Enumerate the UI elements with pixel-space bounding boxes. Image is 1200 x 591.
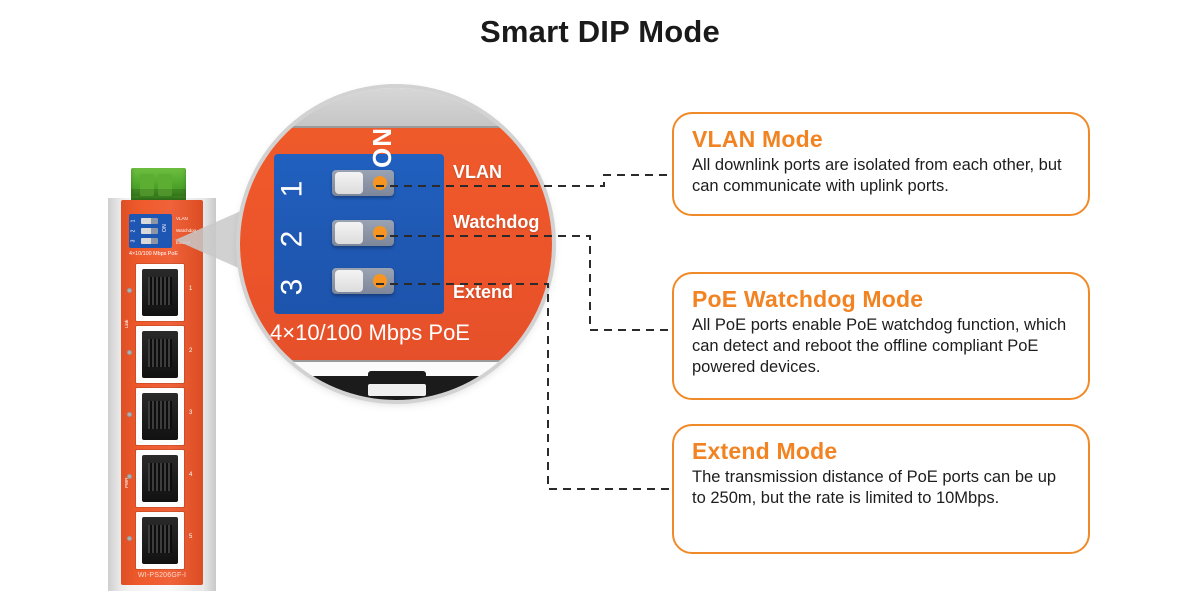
rj45-icon (142, 455, 178, 502)
dip-knob-1 (335, 172, 363, 194)
device-port-3[interactable] (136, 388, 184, 445)
device-port-5[interactable] (136, 512, 184, 569)
device-model-label: WI-PS206GF-I (100, 572, 224, 579)
device-dip-on-label: ON (162, 224, 168, 232)
dip-lever-1[interactable] (332, 170, 394, 196)
device-dip-lever-1[interactable] (141, 218, 158, 224)
device-led-1 (127, 288, 132, 293)
dip-indicator-dot-1 (373, 176, 387, 190)
device-port-number-3: 3 (189, 410, 192, 416)
device-led-4 (127, 474, 132, 479)
infographic-stage: Smart DIP Mode 1 2 3 ON VLAN Watchdog Ex… (0, 0, 1200, 591)
device-dip-number-1: 1 (130, 220, 136, 223)
device-speed-label: 4×10/100 Mbps PoE (129, 251, 178, 257)
device-terminal-block (131, 168, 186, 200)
device-dip-switch[interactable]: 1 2 3 ON (129, 214, 172, 248)
rj45-icon (142, 517, 178, 564)
device-port-1[interactable] (136, 264, 184, 321)
magnifier-circle: 1 2 3 ON VLAN Watchdog Extend 4×10/100 M… (240, 88, 552, 400)
rj45-icon (142, 331, 178, 378)
device-port-number-5: 5 (189, 534, 192, 540)
device-dip-lever-2[interactable] (141, 228, 158, 234)
device-port-number-4: 4 (189, 472, 192, 478)
device-port-2[interactable] (136, 326, 184, 383)
device-power-label: PWR (124, 478, 129, 489)
dip-on-label: ON (367, 127, 398, 168)
magnifier-speed-label: 4×10/100 Mbps PoE (270, 320, 470, 346)
device-link-label: Link (124, 320, 129, 328)
card-extend-body: The transmission distance of PoE ports c… (692, 467, 1070, 509)
card-poe-watchdog-mode: PoE Watchdog Mode All PoE ports enable P… (672, 272, 1090, 400)
card-vlan-body: All downlink ports are isolated from eac… (692, 155, 1070, 197)
device-left-rail (108, 198, 122, 591)
rj45-icon (142, 269, 178, 316)
device-led-3 (127, 412, 132, 417)
dip-number-1: 1 (277, 181, 307, 198)
dip-knob-2 (335, 222, 363, 244)
magnifier-housing-band (240, 88, 552, 126)
card-watchdog-body: All PoE ports enable PoE watchdog functi… (692, 315, 1070, 378)
dip-switch-block[interactable]: 1 2 3 (274, 154, 444, 314)
magnifier-rj45-port (310, 376, 482, 400)
rj45-icon (142, 393, 178, 440)
device-port-number-2: 2 (189, 348, 192, 354)
device-port-number-1: 1 (189, 286, 192, 292)
card-extend-mode: Extend Mode The transmission distance of… (672, 424, 1090, 554)
dip-label-vlan: VLAN (453, 162, 502, 183)
dip-label-watchdog: Watchdog (453, 212, 539, 233)
device-dip-lever-3[interactable] (141, 238, 158, 244)
dip-lever-3[interactable] (332, 268, 394, 294)
dip-lever-2[interactable] (332, 220, 394, 246)
card-vlan-title: VLAN Mode (692, 126, 1070, 153)
dip-indicator-dot-2 (373, 226, 387, 240)
device-dip-number-3: 3 (130, 240, 136, 243)
card-vlan-mode: VLAN Mode All downlink ports are isolate… (672, 112, 1090, 216)
card-watchdog-title: PoE Watchdog Mode (692, 286, 1070, 313)
page-title: Smart DIP Mode (0, 14, 1200, 50)
card-extend-title: Extend Mode (692, 438, 1070, 465)
device-label-vlan: VLAN (176, 216, 188, 222)
device-port-4[interactable] (136, 450, 184, 507)
dip-number-2: 2 (277, 231, 307, 248)
device-led-5 (127, 536, 132, 541)
device-led-2 (127, 350, 132, 355)
dip-number-3: 3 (277, 279, 307, 296)
dip-knob-3 (335, 270, 363, 292)
dip-indicator-dot-3 (373, 274, 387, 288)
dip-label-extend: Extend (453, 282, 513, 303)
device-dip-number-2: 2 (130, 230, 136, 233)
